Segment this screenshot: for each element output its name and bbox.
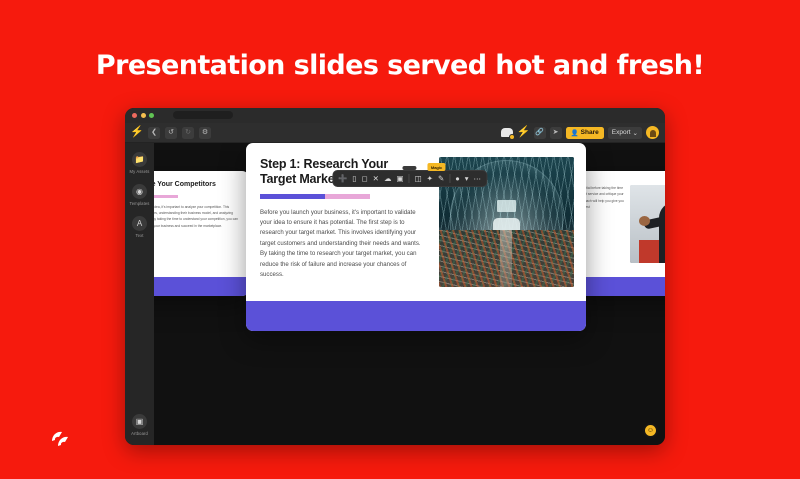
- cloud-icon[interactable]: ☁: [384, 175, 392, 183]
- template-icon: ◉: [132, 184, 147, 199]
- sidebar-item-label: My Assets: [130, 169, 150, 174]
- floating-toolbar: Magic ➕ ▯ ◻ ✕ ☁ ▣ ◫ ✦ ✎ ● ▾ ⋯: [332, 170, 487, 187]
- drag-handle[interactable]: [403, 166, 417, 170]
- app-body: 📁 My Assets ◉ Templates A Text ▣ Artboar…: [125, 143, 665, 445]
- layout-icon[interactable]: ◫: [415, 175, 422, 183]
- window-titlebar: [125, 108, 665, 123]
- bolt-icon[interactable]: ⚡: [131, 127, 143, 139]
- undo-icon[interactable]: ↺: [165, 127, 177, 139]
- slide-accent-bar: [154, 277, 249, 296]
- slidebean-logo: [46, 424, 76, 454]
- redo-icon[interactable]: ↻: [182, 127, 194, 139]
- sidebar-item-artboard[interactable]: ▣ Artboard: [125, 414, 154, 436]
- slide-body: In order to validate your business idea,…: [154, 204, 239, 228]
- divider: [449, 174, 450, 183]
- bolt-icon[interactable]: ⚡: [518, 127, 530, 139]
- link-icon[interactable]: 🔗: [534, 127, 546, 139]
- settings-icon[interactable]: ⚙: [199, 127, 211, 139]
- sidebar-item-text[interactable]: A Text: [132, 216, 147, 238]
- wand-icon[interactable]: ✦: [427, 175, 433, 183]
- slide-body: Before you launch your business, it's im…: [260, 208, 427, 281]
- editor-canvas[interactable]: Magic ➕ ▯ ◻ ✕ ☁ ▣ ◫ ✦ ✎ ● ▾ ⋯ Step 2: An…: [154, 143, 665, 445]
- artboard-icon: ▣: [132, 414, 147, 429]
- page-title: Presentation slides served hot and fresh…: [0, 50, 800, 81]
- shuffle-icon[interactable]: ✕: [373, 175, 379, 183]
- export-label: Export: [612, 129, 631, 136]
- sidebar-item-my-assets[interactable]: 📁 My Assets: [130, 152, 150, 174]
- duplicate-icon[interactable]: ◻: [361, 175, 367, 183]
- accent-rule: [154, 195, 239, 199]
- close-button[interactable]: [132, 113, 137, 118]
- crop-icon[interactable]: ▣: [396, 175, 403, 183]
- sidebar-item-label: Artboard: [131, 431, 148, 436]
- app-window: ⚡ ❮ ↺ ↻ ⚙ ⚡ 🔗 ➤ 👤 Share Export ⌄: [125, 108, 665, 445]
- magic-tooltip: Magic: [428, 163, 445, 171]
- more-icon[interactable]: ⋯: [474, 175, 482, 183]
- brush-icon[interactable]: ✎: [438, 175, 444, 183]
- export-button[interactable]: Export ⌄: [608, 127, 642, 139]
- copy-icon[interactable]: ▯: [352, 175, 356, 183]
- caret-down-icon[interactable]: ▾: [465, 175, 469, 183]
- address-pill[interactable]: [173, 111, 233, 119]
- share-button[interactable]: 👤 Share: [566, 127, 604, 139]
- chevron-down-icon: ⌄: [633, 129, 638, 137]
- left-sidebar: 📁 My Assets ◉ Templates A Text ▣ Artboar…: [125, 143, 154, 445]
- share-person-icon: 👤: [571, 129, 579, 137]
- app-toolbar: ⚡ ❮ ↺ ↻ ⚙ ⚡ 🔗 ➤ 👤 Share Export ⌄: [125, 123, 665, 143]
- share-label: Share: [581, 129, 599, 136]
- slide-title: Step 2: Analyze Your Competitors: [154, 181, 239, 190]
- folder-icon: 📁: [132, 152, 147, 167]
- text-icon: A: [132, 216, 147, 231]
- sidebar-item-templates[interactable]: ◉ Templates: [130, 184, 150, 206]
- comment-icon[interactable]: [500, 127, 514, 139]
- slide-previous[interactable]: Step 2: Analyze Your Competitors In orde…: [154, 171, 249, 296]
- help-icon[interactable]: ☺: [643, 423, 658, 438]
- minimize-button[interactable]: [141, 113, 146, 118]
- person-pointing-photo: [630, 185, 665, 263]
- back-icon[interactable]: ❮: [148, 127, 160, 139]
- sidebar-item-label: Templates: [130, 201, 150, 206]
- add-icon[interactable]: ➕: [338, 175, 347, 183]
- sidebar-item-label: Text: [135, 233, 143, 238]
- send-icon[interactable]: ➤: [550, 127, 562, 139]
- divider: [409, 174, 410, 183]
- user-avatar[interactable]: [646, 126, 659, 139]
- accent-rule: [260, 194, 427, 199]
- color-icon[interactable]: ●: [455, 175, 460, 183]
- maximize-button[interactable]: [149, 113, 154, 118]
- slide-accent-bar: [246, 301, 586, 331]
